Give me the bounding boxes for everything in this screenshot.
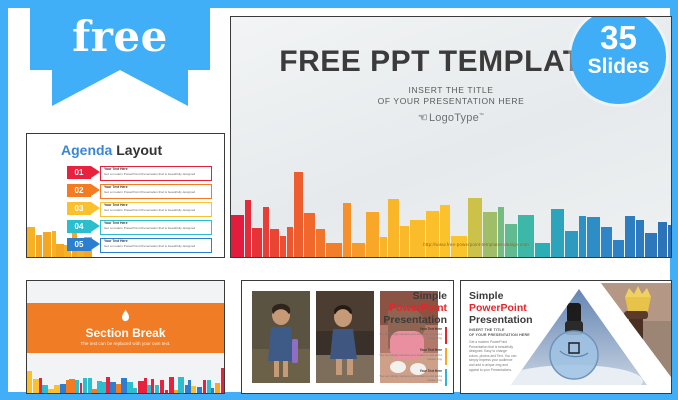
skyline-building	[27, 371, 32, 393]
skyline-building	[75, 380, 79, 393]
photo-child-2	[316, 291, 374, 383]
agenda-row-arrow-icon	[91, 238, 100, 250]
skyline-building	[48, 389, 54, 393]
skyline-building	[56, 244, 63, 257]
photos-title: Simple PowerPoint Presentation	[375, 290, 447, 326]
skyline-building	[468, 198, 483, 257]
photos-text-block: Your Text HereYou can simply impress you…	[375, 348, 447, 366]
agenda-row[interactable]: 01Your Text HereGet a modern PowerPoint …	[67, 166, 212, 179]
agenda-row-arrow-icon	[91, 184, 100, 196]
skyline-building	[54, 385, 60, 393]
skyline-building	[60, 384, 65, 393]
idea-title-line2: PowerPoint	[469, 302, 527, 314]
skyline-building	[366, 212, 379, 257]
agenda-row-number: 05	[67, 238, 91, 251]
skyline-building	[326, 243, 342, 257]
slides-count-unit: Slides	[571, 55, 666, 79]
skyline-building	[565, 231, 577, 257]
skyline-building	[133, 388, 137, 393]
skyline-building	[551, 209, 564, 257]
idea-title-line3: Presentation	[469, 314, 533, 326]
accent-bar	[445, 348, 447, 365]
skyline-building	[645, 233, 657, 257]
photos-text-block: Your Text HereYou can simply impress you…	[375, 369, 447, 387]
skyline-building	[579, 216, 586, 257]
accent-bar	[445, 327, 447, 344]
skyline-building	[625, 216, 635, 257]
skyline-building	[287, 227, 293, 257]
skyline-building	[636, 220, 644, 257]
agenda-title-rest: Layout	[112, 142, 162, 158]
skyline-building	[160, 380, 165, 393]
agenda-row-heading: Your Text Here	[104, 185, 128, 189]
skyline-building	[388, 199, 399, 257]
skyline-building	[215, 383, 221, 393]
skyline-building	[440, 205, 450, 257]
agenda-row-number: 04	[67, 220, 91, 233]
skyline-building	[127, 382, 132, 393]
photos-title-line1: Simple	[413, 290, 447, 302]
skyline-building	[191, 386, 196, 393]
ribbon-tail	[52, 70, 188, 106]
skyline-building	[116, 384, 121, 393]
skyline-building	[27, 227, 35, 257]
photos-title-line2: PowerPoint	[389, 302, 447, 314]
logotype: ☜LogoType™	[231, 111, 671, 124]
skyline-building	[658, 222, 667, 257]
idea-title: Simple PowerPoint Presentation	[469, 290, 579, 326]
agenda-row-arrow-icon	[91, 166, 100, 178]
slide-hero[interactable]: FREE PPT TEMPLATES INSERT THE TITLE OF Y…	[230, 16, 672, 258]
idea-subtitle: INSERT THE TITLE OF YOUR PRESENTATION HE…	[469, 328, 579, 338]
photos-block-body: You can simply impress your audience and…	[378, 332, 442, 340]
photos-block-body: You can simply impress your audience and…	[378, 374, 442, 382]
skyline-building	[352, 243, 364, 257]
skyline-building	[668, 225, 672, 257]
skyline-building	[97, 381, 102, 393]
skyline-building	[36, 235, 43, 257]
skyline-building	[280, 236, 286, 257]
ribbon-label: free	[30, 12, 210, 61]
agenda-row-heading: Your Text Here	[104, 167, 128, 171]
photos-text-block: Your Text HereYou can simply impress you…	[375, 327, 447, 345]
skyline-building	[52, 231, 56, 257]
slide-idea[interactable]: Simple PowerPoint Presentation INSERT TH…	[460, 280, 672, 394]
idea-title-line1: Simple	[469, 290, 503, 302]
skyline-building	[110, 382, 116, 393]
slide-agenda[interactable]: Agenda Layout 01Your Text HereGet a mode…	[26, 133, 225, 258]
agenda-row[interactable]: 05Your Text HereGet a modern PowerPoint …	[67, 238, 212, 251]
skyline-building	[245, 200, 251, 257]
photos-title-line3: Presentation	[383, 314, 447, 326]
agenda-row-body: Get a modern PowerPoint Presentation tha…	[104, 172, 195, 176]
skyline-building	[380, 237, 388, 257]
agenda-row-body: Get a modern PowerPoint Presentation tha…	[104, 226, 195, 230]
skyline-building	[316, 229, 325, 257]
section-subtitle: The text can be replaced with your own t…	[27, 341, 224, 346]
photo-child-1	[252, 291, 310, 383]
agenda-row-heading: Your Text Here	[104, 221, 128, 225]
logotype-tm: ™	[479, 112, 484, 118]
skyline-building	[69, 379, 75, 393]
agenda-title: Agenda Layout	[61, 142, 162, 158]
agenda-row-body: Get a modern PowerPoint Presentation tha…	[104, 208, 195, 212]
agenda-row[interactable]: 04Your Text HereGet a modern PowerPoint …	[67, 220, 212, 233]
skyline-building	[294, 172, 303, 257]
idea-body: Get a modern PowerPoint Presentation tha…	[469, 340, 517, 372]
slide-photos[interactable]: Simple PowerPoint Presentation Your Text…	[241, 280, 454, 394]
skyline-building	[92, 389, 97, 393]
idea-subtitle-line1: INSERT THE TITLE	[469, 328, 505, 332]
skyline-building	[483, 212, 497, 257]
idea-subtitle-line2: OF YOUR PRESENTATION HERE	[469, 333, 530, 337]
skyline-building	[33, 379, 39, 393]
section-title: Section Break	[27, 326, 224, 340]
skyline-building	[518, 215, 534, 257]
agenda-row-number: 01	[67, 166, 91, 179]
skyline-building	[83, 378, 88, 393]
logo-mark-icon: ☜	[418, 112, 428, 124]
skyline-building	[252, 228, 261, 257]
agenda-row-heading: Your Text Here	[104, 239, 128, 243]
logotype-label: LogoType	[429, 112, 479, 124]
agenda-row-arrow-icon	[91, 220, 100, 232]
skyline-building	[426, 211, 439, 257]
skyline-building	[138, 381, 144, 393]
photos-block-heading: Your Text Here	[378, 369, 442, 373]
skyline-building	[304, 213, 315, 257]
skyline-building	[169, 377, 174, 393]
skyline-building	[197, 387, 202, 393]
skyline-building	[207, 380, 211, 393]
agenda-row[interactable]: 02Your Text HereGet a modern PowerPoint …	[67, 184, 212, 197]
skyline-building	[587, 217, 600, 257]
skyline-building	[601, 227, 612, 257]
skyline-building	[613, 240, 624, 257]
agenda-row-heading: Your Text Here	[104, 203, 128, 207]
skyline-building	[221, 368, 225, 393]
accent-bar	[445, 369, 447, 386]
poster-frame: free FREE PPT TEMPLATES INSERT THE TITLE…	[8, 8, 670, 392]
slide-section-break[interactable]: Section Break The text can be replaced w…	[26, 280, 225, 394]
skyline-building	[270, 229, 279, 257]
free-ribbon: free	[30, 8, 210, 100]
skyline-building	[410, 220, 425, 257]
agenda-row-number: 02	[67, 184, 91, 197]
photos-block-body: You can simply impress your audience and…	[378, 353, 442, 361]
agenda-row-number: 03	[67, 202, 91, 215]
skyline-building	[121, 378, 126, 393]
skyline-building	[498, 207, 504, 257]
skyline-building	[178, 377, 184, 393]
skyline-building	[343, 203, 352, 257]
photos-block-heading: Your Text Here	[378, 327, 442, 331]
section-skyline	[27, 371, 224, 393]
skyline-building	[42, 385, 48, 393]
agenda-title-accent: Agenda	[61, 142, 112, 158]
skyline-building	[505, 224, 517, 258]
skyline-building	[231, 215, 244, 257]
skyline-building	[43, 232, 51, 257]
photos-block-heading: Your Text Here	[378, 348, 442, 352]
agenda-row[interactable]: 03Your Text HereGet a modern PowerPoint …	[67, 202, 212, 215]
skyline-building	[263, 207, 269, 257]
agenda-row-arrow-icon	[91, 202, 100, 214]
skyline-building	[155, 385, 159, 393]
agenda-row-body: Get a modern PowerPoint Presentation tha…	[104, 244, 195, 248]
slides-count-number: 35	[571, 22, 666, 54]
agenda-row-body: Get a modern PowerPoint Presentation tha…	[104, 190, 195, 194]
hero-url: http://www.free-powerpoint-templates-des…	[386, 242, 566, 247]
